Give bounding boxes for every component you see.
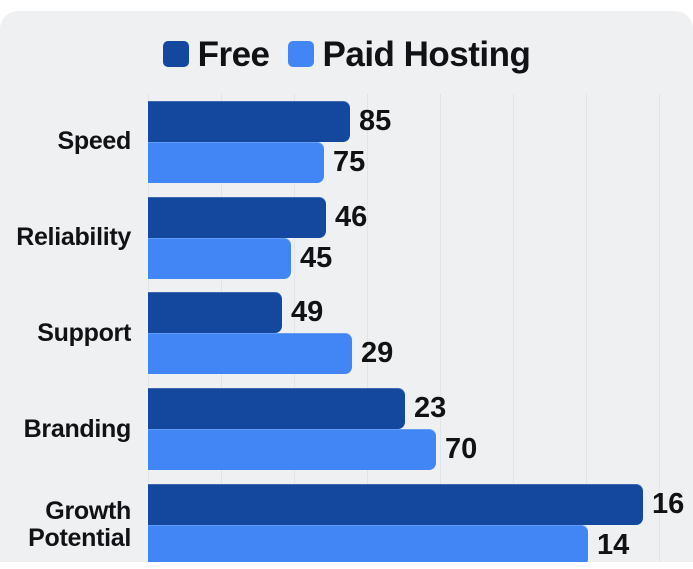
bar-support-paid[interactable] [148, 333, 352, 374]
bar-value-growth-potential-paid: 14 [597, 531, 629, 560]
bar-value-support-free: 49 [291, 298, 323, 327]
legend-swatch-icon-paid-hosting [288, 41, 314, 67]
bar-row-reliability-paid: 45 [148, 238, 693, 279]
category-label-speed: Speed [0, 94, 140, 190]
plot-area: 85 75 46 45 [148, 94, 693, 562]
bar-row-reliability-free: 46 [148, 197, 693, 238]
bar-growth-potential-paid[interactable] [148, 525, 588, 562]
bar-row-speed-free: 85 [148, 101, 693, 142]
bar-value-branding-free: 23 [414, 394, 446, 423]
legend-entry-free[interactable]: Free [163, 37, 270, 72]
bar-row-growth-potential-free: 16 [148, 484, 693, 525]
bottom-edge [0, 562, 693, 569]
bar-row-speed-paid: 75 [148, 142, 693, 183]
bar-value-reliability-paid: 45 [300, 244, 332, 273]
bar-value-branding-paid: 70 [445, 435, 477, 464]
legend-label-free: Free [198, 37, 270, 72]
bar-row-branding-free: 23 [148, 388, 693, 429]
chart-card: Free Paid Hosting Speed Reliability Supp… [0, 11, 693, 562]
bar-value-growth-potential-free: 16 [652, 490, 684, 519]
bar-growth-potential-free[interactable] [148, 484, 643, 525]
bar-group-support: 49 29 [148, 286, 693, 382]
bar-row-branding-paid: 70 [148, 429, 693, 470]
bar-group-reliability: 46 45 [148, 190, 693, 286]
bar-speed-paid[interactable] [148, 142, 324, 183]
bar-groups: 85 75 46 45 [148, 94, 693, 562]
bar-value-reliability-free: 46 [335, 203, 367, 232]
bar-row-support-paid: 29 [148, 333, 693, 374]
category-axis-labels: Speed Reliability Support Branding Growt… [0, 94, 140, 562]
category-label-reliability: Reliability [0, 190, 140, 286]
bar-branding-paid[interactable] [148, 429, 436, 470]
chart-legend: Free Paid Hosting [0, 30, 693, 78]
bar-speed-free[interactable] [148, 101, 350, 142]
category-label-growth-potential: Growth Potential [0, 477, 140, 562]
bar-branding-free[interactable] [148, 388, 405, 429]
bar-group-growth-potential: 16 14 [148, 477, 693, 562]
chart-screenshot: Free Paid Hosting Speed Reliability Supp… [0, 0, 693, 569]
bar-value-support-paid: 29 [361, 339, 393, 368]
bar-group-speed: 85 75 [148, 94, 693, 190]
bar-support-free[interactable] [148, 292, 282, 333]
bar-row-growth-potential-paid: 14 [148, 525, 693, 562]
category-label-support: Support [0, 286, 140, 382]
bar-row-support-free: 49 [148, 292, 693, 333]
bar-value-speed-paid: 75 [333, 148, 365, 177]
legend-label-paid-hosting: Paid Hosting [323, 37, 531, 72]
bar-reliability-free[interactable] [148, 197, 326, 238]
bar-reliability-paid[interactable] [148, 238, 291, 279]
legend-entry-paid-hosting[interactable]: Paid Hosting [288, 37, 531, 72]
bar-group-branding: 23 70 [148, 381, 693, 477]
category-label-branding: Branding [0, 381, 140, 477]
legend-swatch-icon-free [163, 41, 189, 67]
bar-value-speed-free: 85 [359, 107, 391, 136]
